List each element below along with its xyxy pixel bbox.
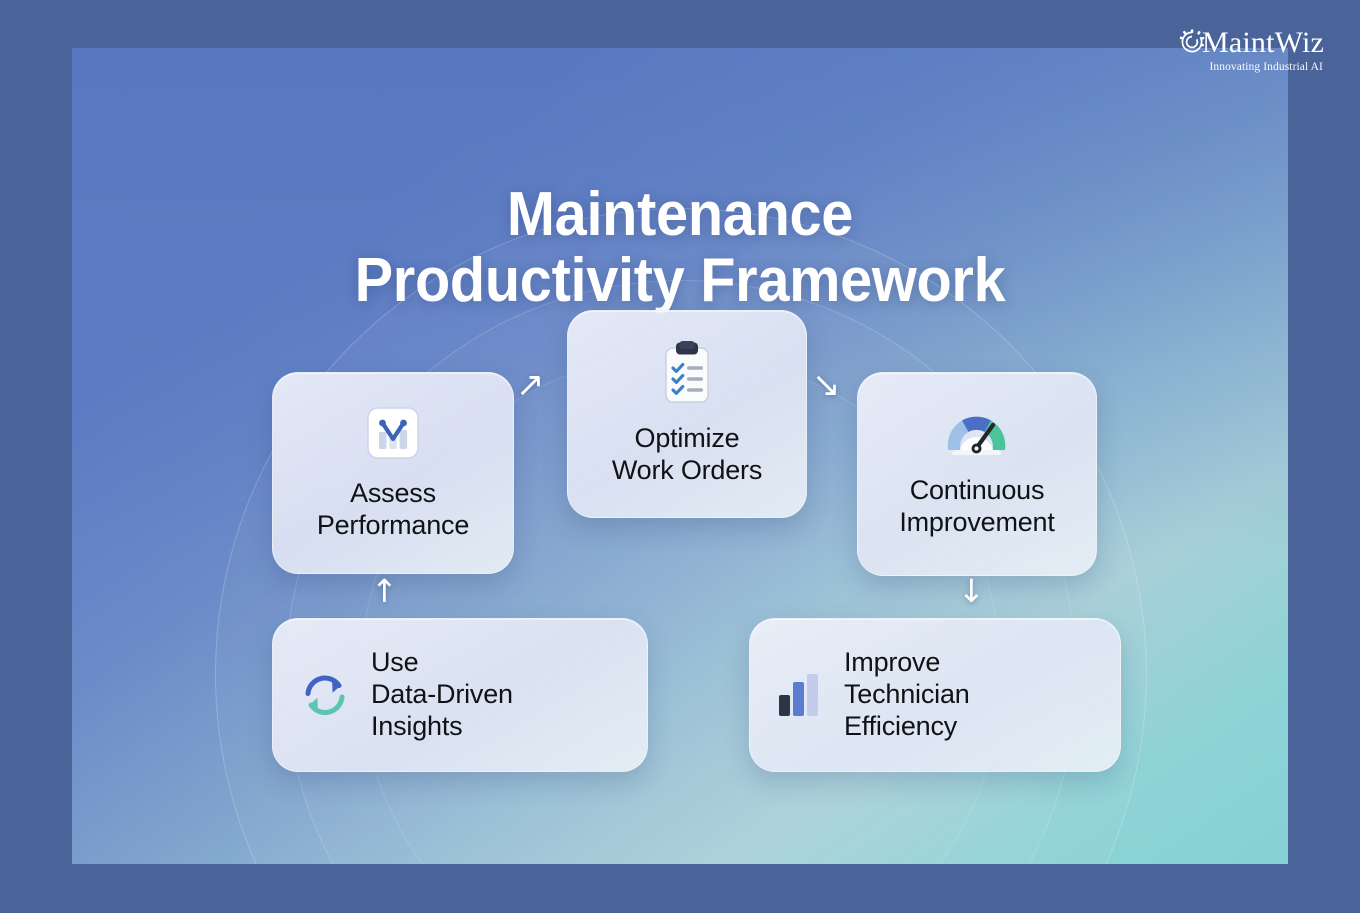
node-card-optimize-work-orders[interactable]: Optimize Work Orders: [567, 310, 807, 518]
node-card-improve-technician-efficiency[interactable]: Improve Technician Efficiency: [749, 618, 1121, 772]
brand-logo: MaintWiz Innovating Industrial AI: [1179, 28, 1324, 73]
clipboard-checklist-icon: [658, 341, 716, 407]
arrow-insights-to-assess: ↑: [371, 575, 398, 607]
slide-frame: MaintWiz Innovating Industrial AI Mainte…: [0, 0, 1360, 913]
node-label-optimize-work-orders: Optimize Work Orders: [612, 423, 762, 487]
logo-wordmark: MaintWiz: [1202, 28, 1324, 58]
page-title: Maintenance Productivity Framework: [72, 182, 1288, 316]
gauge-speedometer-icon: [944, 409, 1010, 459]
title-line-2: Productivity Framework: [115, 248, 1246, 315]
node-card-continuous-improvement[interactable]: Continuous Improvement: [857, 372, 1097, 576]
node-card-use-data-driven-insights[interactable]: Use Data-Driven Insights: [272, 618, 648, 772]
refresh-cycle-icon: [299, 669, 351, 721]
node-label-continuous-improvement: Continuous Improvement: [899, 475, 1054, 539]
node-label-assess-performance: Assess Performance: [317, 478, 469, 542]
arrow-assess-to-optimize: ↗: [516, 368, 545, 402]
logo-tagline: Innovating Industrial AI: [1209, 61, 1323, 73]
analytics-chart-icon: [364, 404, 422, 462]
node-card-assess-performance[interactable]: Assess Performance: [272, 372, 514, 574]
arrow-optimize-to-continuous: ↘: [812, 368, 841, 402]
diagram-canvas: Maintenance Productivity Framework ↗ ↘ ↑…: [72, 48, 1288, 864]
bar-chart-icon: [776, 669, 824, 721]
title-line-1: Maintenance: [115, 182, 1246, 249]
node-label-improve-technician-efficiency: Improve Technician Efficiency: [844, 647, 970, 743]
logo-row: MaintWiz: [1179, 28, 1324, 58]
node-label-use-data-driven-insights: Use Data-Driven Insights: [371, 647, 513, 743]
arrow-continuous-to-efficiency: ↓: [958, 575, 985, 607]
